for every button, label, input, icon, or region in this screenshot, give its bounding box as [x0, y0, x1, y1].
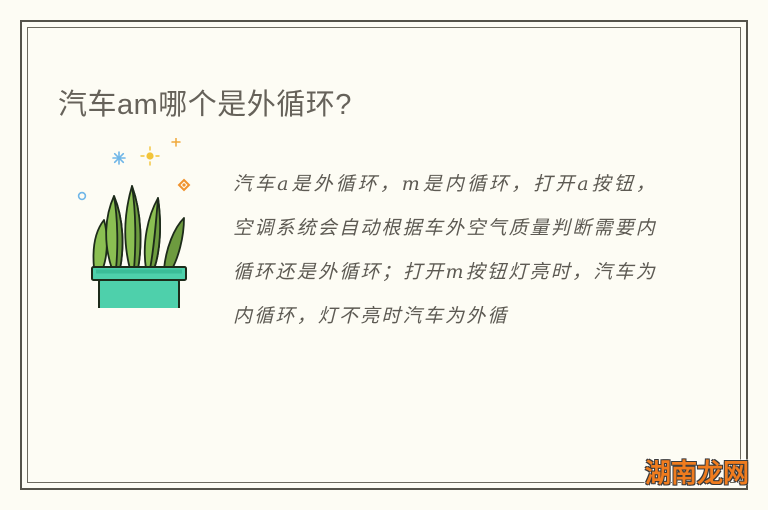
dot-sparkle-yellow: [141, 147, 159, 165]
snowflake-sparkle: [113, 152, 125, 164]
article-card: 汽车am哪个是外循环?: [0, 0, 768, 510]
plant-illustration: [72, 138, 222, 308]
page-title: 汽车am哪个是外循环?: [58, 85, 352, 125]
plant-pot: [92, 267, 186, 308]
diamond-sparkle-orange: [179, 180, 189, 190]
article-body: 汽车a是外循环，m是内循环，打开a按钮，空调系统会自动根据车外空气质量判断需要内…: [233, 162, 657, 338]
site-watermark: 湖南龙网: [645, 456, 749, 490]
ring-sparkle-blue: [79, 193, 86, 200]
small-dot-sparkle-orange: [172, 138, 180, 146]
article-paragraph: 汽车a是外循环，m是内循环，打开a按钮，空调系统会自动根据车外空气质量判断需要内…: [233, 162, 657, 338]
plant-leaves: [93, 186, 184, 269]
